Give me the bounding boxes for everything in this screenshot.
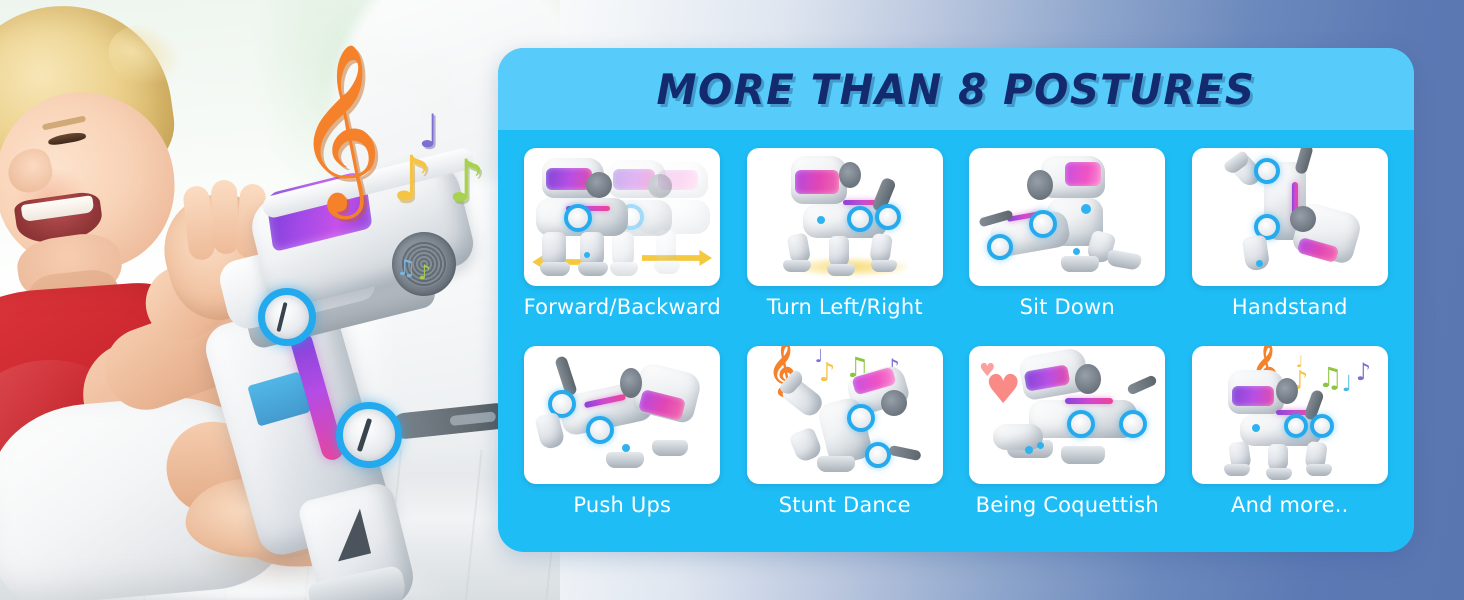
music-note-small-green-icon: ♪ bbox=[418, 262, 431, 282]
robot-led-dot bbox=[622, 444, 630, 452]
page-title: MORE THAN 8 POSTURES bbox=[657, 65, 1256, 114]
postures-panel: MORE THAN 8 POSTURES bbox=[498, 48, 1414, 552]
posture-label: Stunt Dance bbox=[779, 493, 911, 517]
robot-led-dot bbox=[1252, 424, 1260, 432]
robot-led-dot bbox=[1256, 260, 1263, 267]
robot-ear-icon bbox=[881, 390, 907, 416]
robot-heart-icon: ♥ ♥ bbox=[969, 346, 1165, 484]
robot-joint-icon bbox=[875, 204, 901, 230]
robot-pushup-icon bbox=[524, 346, 720, 484]
robot-paw bbox=[871, 260, 897, 272]
posture-item-being-coquettish[interactable]: ♥ ♥ bbox=[957, 346, 1178, 538]
robot-visor bbox=[1065, 162, 1101, 186]
robot-paw bbox=[783, 260, 811, 272]
robot-led-strip bbox=[1065, 398, 1113, 404]
posture-item-forward-backward[interactable]: Forward/Backward bbox=[512, 148, 733, 340]
posture-label: Turn Left/Right bbox=[767, 295, 923, 319]
music-note-yellow-icon: ♪ bbox=[392, 148, 432, 210]
robot-joint-icon bbox=[1310, 414, 1334, 438]
posture-thumbnail bbox=[1192, 148, 1388, 286]
robot-standing-icon bbox=[747, 148, 943, 286]
robot-visor bbox=[1232, 386, 1274, 406]
robot-foreleg bbox=[993, 424, 1043, 450]
robot-music-icon: 𝄞 ♩ ♪ ♫ ♩ ♪ bbox=[1192, 346, 1388, 484]
posture-label: Handstand bbox=[1232, 295, 1348, 319]
robot-joint-icon bbox=[987, 234, 1013, 260]
robot-paw bbox=[652, 440, 688, 456]
heart-icon: ♥ bbox=[985, 370, 1021, 410]
robot-paw bbox=[1266, 468, 1292, 480]
robot-leg bbox=[1242, 234, 1270, 271]
posture-item-turn-left-right[interactable]: Turn Left/Right bbox=[735, 148, 956, 340]
robot-ear-icon bbox=[1290, 206, 1316, 232]
music-note-green-icon: ♫ bbox=[1318, 364, 1343, 392]
robot-visor bbox=[795, 170, 839, 194]
posture-item-sit-down[interactable]: Sit Down bbox=[957, 148, 1178, 340]
robot-paw bbox=[578, 262, 608, 276]
robot-joint-icon bbox=[1284, 414, 1308, 438]
music-note-yellow-icon: ♪ bbox=[819, 360, 836, 386]
posture-label: Push Ups bbox=[573, 493, 671, 517]
posture-thumbnail bbox=[524, 148, 720, 286]
posture-label: Sit Down bbox=[1020, 295, 1115, 319]
robot-led-dot bbox=[1073, 248, 1080, 255]
panel-header: MORE THAN 8 POSTURES bbox=[498, 48, 1414, 130]
robot-paw bbox=[1061, 256, 1099, 272]
robot-tail bbox=[1127, 374, 1158, 395]
posture-item-handstand[interactable]: Handstand bbox=[1180, 148, 1401, 340]
posture-thumbnail: 𝄞 ♩ ♪ ♫ ♪ bbox=[747, 346, 943, 484]
robot-ear-icon bbox=[839, 162, 861, 188]
robot-joint-icon bbox=[336, 402, 402, 468]
robot-paw bbox=[827, 264, 855, 276]
music-note-small-blue-icon: ♫ bbox=[396, 258, 416, 280]
posture-label: Being Coquettish bbox=[976, 493, 1159, 517]
postures-grid: Forward/Backward bbox=[498, 130, 1414, 552]
posture-label: And more.. bbox=[1231, 493, 1348, 517]
robot-tail bbox=[1294, 148, 1314, 175]
posture-label: Forward/Backward bbox=[524, 295, 721, 319]
lifestyle-photo: 𝄞 ♩ ♪ ♪ ♫ ♪ bbox=[0, 0, 560, 600]
music-note-blue-icon: ♩ bbox=[1342, 374, 1352, 396]
robot-tail bbox=[888, 445, 921, 461]
robot-joint-icon bbox=[1254, 158, 1280, 184]
robot-joint-icon bbox=[865, 442, 891, 468]
robot-joint-icon bbox=[847, 206, 873, 232]
posture-thumbnail: 𝄞 ♩ ♪ ♫ ♩ ♪ bbox=[1192, 346, 1388, 484]
robot-tail bbox=[391, 402, 511, 440]
robot-joint-icon bbox=[586, 416, 614, 444]
robot-paw bbox=[1224, 464, 1250, 476]
robot-dancing-icon: 𝄞 ♩ ♪ ♫ ♪ bbox=[747, 346, 943, 484]
robot-handstand-icon bbox=[1192, 148, 1388, 286]
robot-sitting-icon bbox=[969, 148, 1165, 286]
posture-thumbnail bbox=[747, 148, 943, 286]
posture-item-and-more[interactable]: 𝄞 ♩ ♪ ♫ ♩ ♪ bbox=[1180, 346, 1401, 538]
posture-item-push-ups[interactable]: Push Ups bbox=[512, 346, 733, 538]
robot-joint-icon bbox=[258, 288, 316, 346]
treble-clef-icon: 𝄞 bbox=[296, 42, 382, 215]
posture-thumbnail bbox=[969, 148, 1165, 286]
robot-paw bbox=[1106, 249, 1142, 271]
robot-ear-icon bbox=[1075, 364, 1101, 394]
robot-paw bbox=[1306, 464, 1332, 476]
product-banner: 𝄞 ♩ ♪ ♪ ♫ ♪ MORE THAN 8 POSTURES bbox=[0, 0, 1464, 600]
robot-walking-icon bbox=[524, 148, 720, 286]
robot-paw bbox=[606, 452, 644, 468]
robot-ear-icon bbox=[1276, 378, 1298, 404]
posture-thumbnail: ♥ ♥ bbox=[969, 346, 1165, 484]
robot-ear-icon bbox=[586, 172, 612, 198]
music-note-purple-icon: ♪ bbox=[1356, 360, 1371, 384]
robot-paw bbox=[540, 262, 570, 276]
child-teeth bbox=[21, 195, 95, 222]
music-note-green-icon: ♪ bbox=[448, 152, 485, 210]
posture-item-stunt-dance[interactable]: 𝄞 ♩ ♪ ♫ ♪ bbox=[735, 346, 956, 538]
robot-paw bbox=[1061, 446, 1105, 464]
robot-joint-icon bbox=[1119, 410, 1147, 438]
robot-led-dot bbox=[817, 216, 825, 224]
robot-paw bbox=[817, 456, 855, 472]
robot-joint-icon bbox=[847, 404, 875, 432]
posture-thumbnail bbox=[524, 346, 720, 484]
